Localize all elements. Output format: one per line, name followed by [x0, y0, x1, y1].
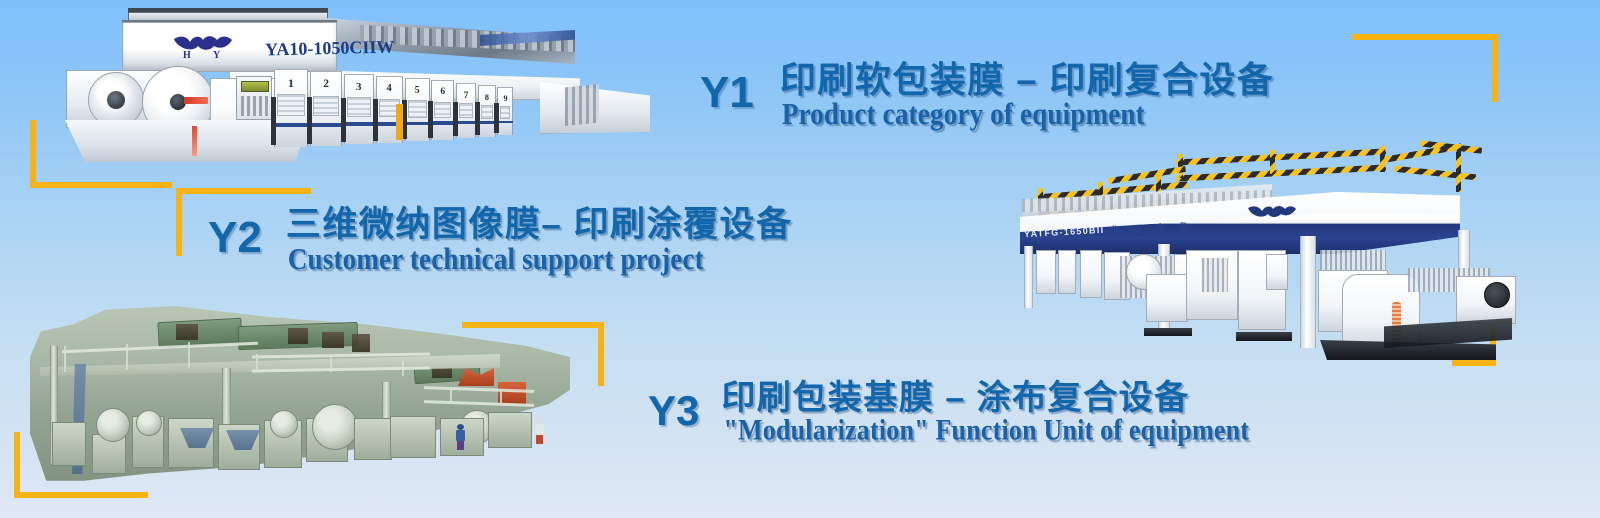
- laminator-railing-left-c: [1108, 166, 1186, 184]
- press-station-number: 2: [323, 78, 329, 90]
- coater-dryer-duct-4: [352, 334, 370, 352]
- press-station-number: 5: [415, 85, 420, 96]
- bracket-y1-left-vertical: [30, 120, 36, 188]
- press-station-gap-shadow: [341, 98, 346, 142]
- press-station-gap-shadow: [271, 97, 276, 145]
- entry-y2-title-en: Customer technical support project: [288, 243, 793, 275]
- press-station-blue-band: [310, 123, 342, 127]
- press-printing-station: 3: [344, 74, 374, 145]
- entry-y3-code: Y3: [648, 390, 699, 432]
- entry-y1-title-cn: 印刷软包装膜 – 印刷复合设备: [780, 60, 1275, 100]
- entry-y2-title-cn: 三维微纳图像膜– 印刷涂覆设备: [286, 206, 793, 245]
- coater-drum-3: [270, 410, 298, 438]
- bracket-y1-right-vertical: [1492, 34, 1498, 102]
- press-printing-station: 8: [478, 85, 496, 137]
- bracket-y2-horizontal: [176, 188, 311, 194]
- bracket-y3-left-vertical: [14, 432, 20, 498]
- press-station-gap-shadow: [428, 101, 433, 138]
- machine-image-coating-laminator: 华 亚 宝 备 YATFG-1650BII: [980, 150, 1520, 365]
- coater-dryer-duct-2: [288, 328, 308, 344]
- entry-y1-code: Y1: [700, 71, 754, 115]
- coater-rail-post-3: [188, 342, 190, 368]
- coater-operator-2: [535, 418, 544, 444]
- press-station-number: 3: [356, 81, 362, 93]
- press-station-gap-shadow: [307, 97, 312, 143]
- hy-brand-logo-icon: [1245, 204, 1299, 224]
- press-outfeed-detail: [565, 84, 599, 126]
- press-station-panel: [277, 94, 305, 116]
- entry-y3: Y3 印刷包装基膜 – 涂布复合设备 "Modularization" Func…: [648, 380, 1249, 443]
- svg-text:H: H: [183, 50, 191, 60]
- coater-unit-8: [354, 418, 392, 460]
- operator-torso: [535, 424, 544, 435]
- press-station-panel: [459, 103, 474, 118]
- press-printing-station: 7: [456, 83, 477, 139]
- press-station-panel: [347, 97, 371, 117]
- coater-rail-post-4: [256, 354, 258, 370]
- entry-y2-code: Y2: [208, 216, 262, 260]
- press-station-panel: [434, 102, 451, 118]
- operator-legs: [457, 441, 464, 450]
- entry-y1: Y1 印刷软包装膜 – 印刷复合设备 Product category of e…: [700, 60, 1274, 126]
- coater-rail-post-5: [330, 356, 332, 372]
- laminator-railing-top-rear: [1176, 149, 1386, 166]
- laminator-unit-3: [1080, 250, 1102, 298]
- press-station-gap-shadow: [494, 103, 499, 133]
- laminator-rewind-roll: [1484, 282, 1510, 308]
- coater-operator-1: [456, 424, 465, 450]
- press-yellow-indicator: [396, 104, 403, 140]
- operator-torso: [456, 430, 465, 441]
- press-printing-station: 9: [497, 87, 513, 135]
- laminator-support-leg-3: [1300, 236, 1316, 348]
- press-station-number: 8: [485, 92, 489, 102]
- coater-unit-1: [52, 422, 86, 466]
- coater-drum-large: [312, 404, 358, 450]
- laminator-support-leg-1: [1024, 246, 1033, 308]
- coater-rail-post-6: [402, 360, 404, 376]
- press-station-blue-band: [344, 122, 374, 126]
- bracket-y3-left-horizontal: [14, 492, 148, 498]
- coater-unit-9: [390, 416, 436, 458]
- laminator-roller-bank-2: [1202, 258, 1228, 292]
- press-station-number: 9: [503, 94, 507, 103]
- press-station-panel: [500, 106, 510, 119]
- coater-dryer-duct-3: [322, 332, 344, 348]
- bracket-y1-right-horizontal: [1352, 34, 1498, 40]
- press-station-number: 7: [464, 90, 469, 100]
- press-station-panel: [408, 100, 427, 118]
- press-printing-station: 5: [405, 78, 430, 141]
- press-station-blue-band: [497, 121, 513, 124]
- hy-brand-logo-icon: H Y: [170, 34, 236, 60]
- press-station-number: 1: [288, 76, 294, 91]
- coater-red-guard-2: [498, 382, 526, 404]
- bracket-y3-top-vertical: [598, 322, 604, 386]
- laminator-railing-right-b: [1394, 166, 1476, 181]
- press-printing-station: 1: [274, 69, 308, 147]
- press-unwind-red-marker: [184, 97, 208, 104]
- coater-dryer-duct-1: [176, 324, 198, 340]
- press-station-panel: [313, 96, 339, 117]
- bracket-y1-left-horizontal: [30, 182, 172, 188]
- banner-canvas: H Y YA10-1050CIIW 123456789: [0, 0, 1600, 518]
- press-station-blue-band: [431, 121, 454, 124]
- press-station-gap-shadow: [475, 102, 480, 134]
- press-red-hose: [192, 126, 197, 156]
- laminator-railing-post-2: [1270, 150, 1275, 174]
- press-unwind-hub-secondary: [107, 91, 125, 109]
- entry-y1-title-en: Product category of equipment: [782, 98, 1275, 130]
- press-printing-station: 2: [310, 71, 342, 145]
- entry-y2: Y2 三维微纳图像膜– 印刷涂覆设备 Customer technical su…: [208, 206, 793, 271]
- laminator-unit-9: [1266, 254, 1288, 290]
- press-printing-station: 6: [431, 80, 454, 139]
- press-control-keypad: [241, 96, 269, 116]
- entry-y3-title-cn: 印刷包装基膜 – 涂布复合设备: [721, 380, 1249, 417]
- coater-rail-post-2: [126, 344, 128, 370]
- coater-rail-post-7: [450, 388, 452, 404]
- laminator-railing-top-front: [1176, 165, 1386, 182]
- press-station-blue-band: [405, 122, 430, 125]
- laminator-unit-1: [1036, 250, 1056, 294]
- press-station-blue-band: [456, 121, 477, 124]
- laminator-unit-6: [1146, 274, 1188, 322]
- coater-rail-post-1: [64, 346, 66, 372]
- press-station-gap-shadow: [373, 99, 378, 140]
- bracket-y2-vertical: [176, 188, 182, 256]
- press-control-panel: [236, 76, 272, 120]
- svg-text:Y: Y: [213, 50, 221, 60]
- press-station-blue-band: [274, 123, 308, 127]
- laminator-unit-2: [1058, 250, 1076, 294]
- press-station-blue-band: [478, 121, 496, 124]
- press-control-screen: [241, 81, 269, 92]
- coater-unit-11: [488, 412, 532, 448]
- machine-image-rotogravure-press: H Y YA10-1050CIIW 123456789: [60, 8, 600, 173]
- entry-y3-title-en: "Modularization" Function Unit of equipm…: [723, 415, 1249, 446]
- operator-legs: [536, 435, 543, 444]
- coater-drum-1: [96, 408, 130, 442]
- laminator-base-plate-mid: [1236, 332, 1292, 341]
- press-station-gap-shadow: [453, 102, 458, 136]
- machine-image-paper-coating-line: [30, 306, 570, 488]
- laminator-base-plate-left: [1144, 328, 1192, 336]
- coater-rail-post-8: [500, 390, 502, 406]
- press-station-number: 6: [440, 87, 445, 97]
- press-station-number: 4: [387, 83, 392, 94]
- coater-drum-2: [136, 410, 162, 436]
- press-station-panel: [481, 105, 493, 119]
